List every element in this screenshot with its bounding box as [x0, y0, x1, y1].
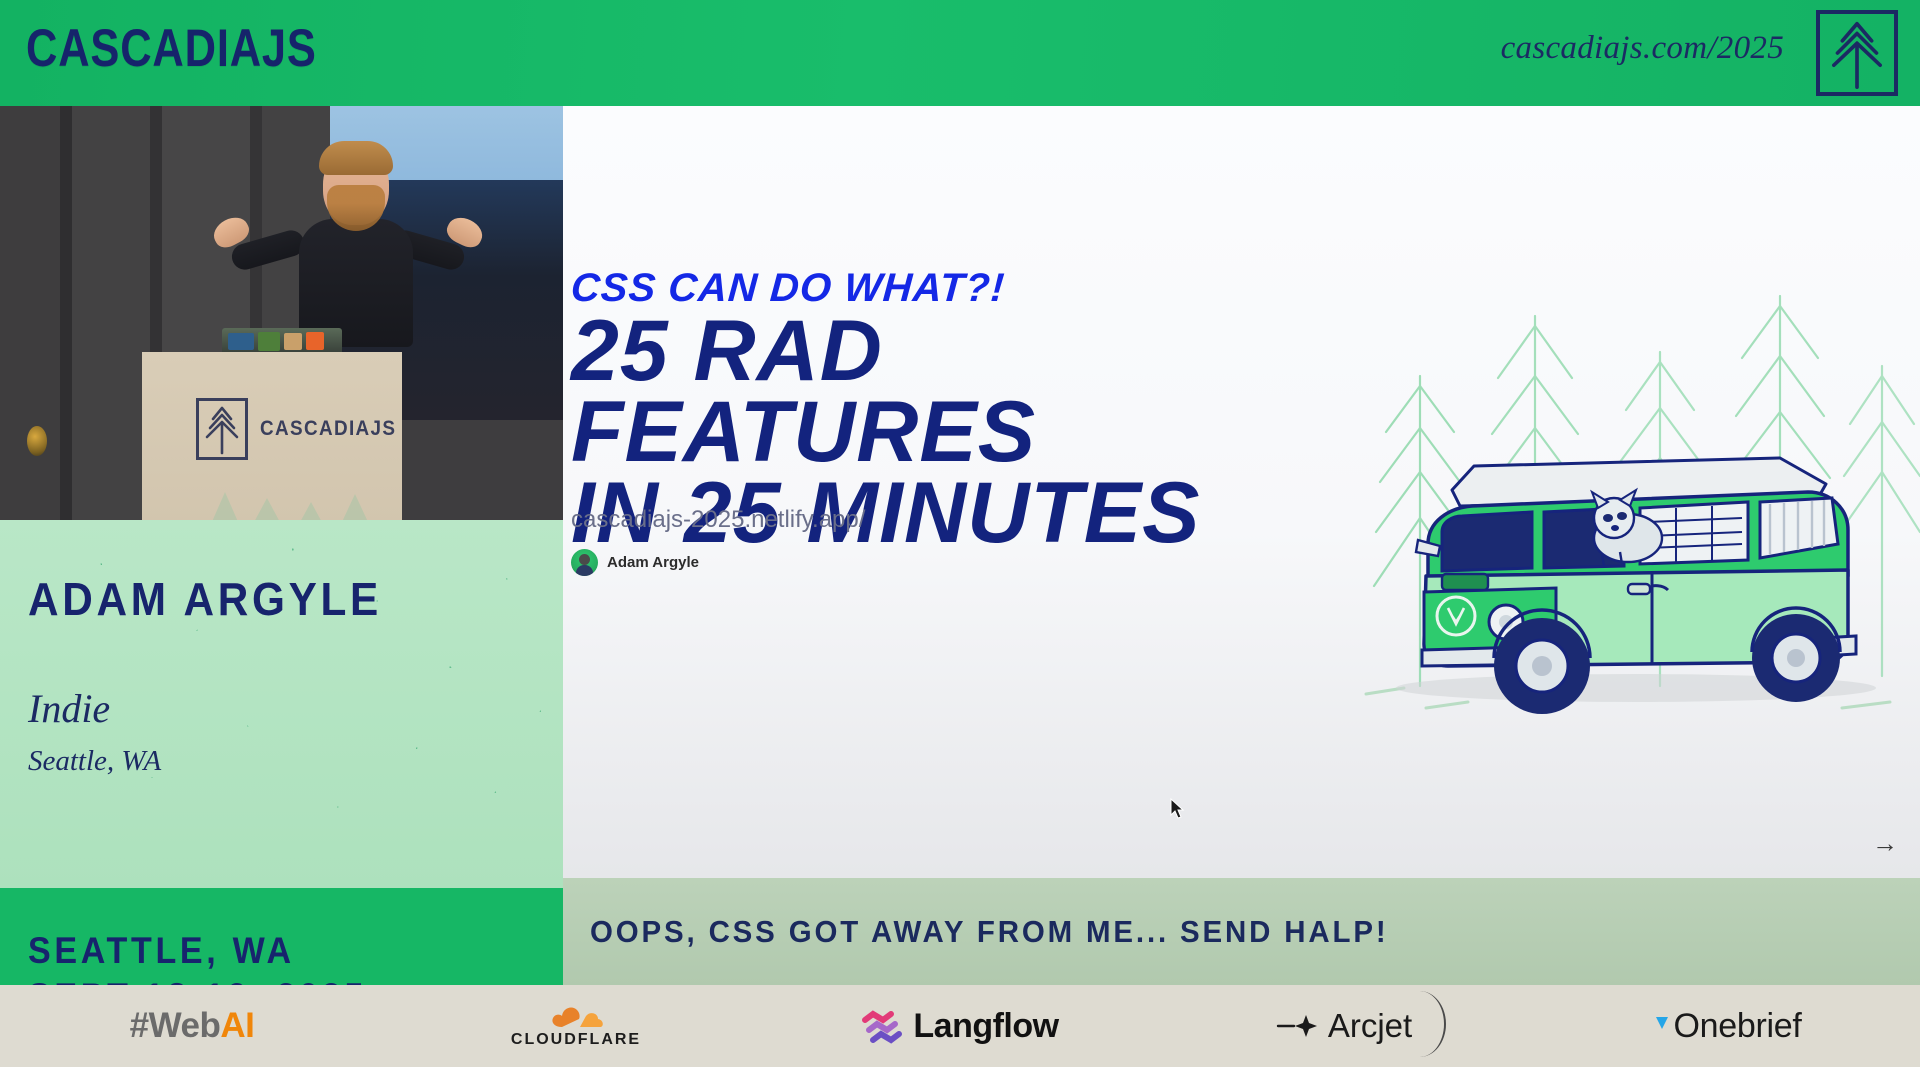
langflow-logo-icon: [861, 1006, 903, 1046]
sponsor-langflow[interactable]: Langflow: [768, 985, 1152, 1067]
webai-label-web: #Web: [130, 1006, 221, 1045]
podium-branding: CASCADIAJS: [196, 398, 412, 460]
arcjet-arc-decor: [1402, 991, 1446, 1057]
langflow-label: Langflow: [913, 1007, 1058, 1046]
laptop-sticker: [284, 333, 302, 350]
podium-brand-label: CASCADIAJS: [260, 417, 396, 441]
arcjet-label: Arcjet: [1328, 1007, 1412, 1045]
screen-root: CASCADIAJS cascadiajs.com/2025: [0, 0, 1920, 1067]
caption-text: OOPS, CSS GOT AWAY FROM ME... SEND HALP!: [590, 914, 1389, 950]
wall-sconce-icon: [27, 426, 47, 456]
speaker-role: Indie: [28, 685, 110, 732]
laptop-sticker: [306, 332, 324, 350]
caption-bar: OOPS, CSS GOT AWAY FROM ME... SEND HALP!: [563, 878, 1920, 985]
sponsor-arcjet[interactable]: Arcjet: [1152, 985, 1536, 1067]
speaker-hair: [319, 141, 393, 175]
podium-trees-icon: [195, 482, 395, 520]
speaker-name: ADAM ARGYLE: [28, 572, 382, 626]
webai-label-ai: AI: [220, 1006, 254, 1045]
laptop-sticker: [258, 332, 280, 351]
slide-title-line1: 25 RAD FEATURES: [571, 303, 1036, 480]
sponsor-webai[interactable]: #WebAI: [0, 985, 384, 1067]
conference-header: CASCADIAJS cascadiajs.com/2025: [0, 0, 1920, 106]
avatar: [571, 549, 598, 576]
onebrief-mark-icon: [1654, 1015, 1670, 1037]
green-van-illustration: [1356, 426, 1916, 726]
cloudflare-label: CLOUDFLARE: [511, 1031, 641, 1049]
speaker-info-panel: ADAM ARGYLE Indie Seattle, WA: [0, 520, 563, 888]
onebrief-label: Onebrief: [1673, 1007, 1801, 1046]
next-slide-button[interactable]: →: [1872, 830, 1898, 856]
header-url: cascadiajs.com/2025: [1501, 30, 1784, 67]
event-city: SEATTLE, WA: [28, 930, 295, 972]
webai-logo-icon: #WebAI: [130, 1006, 255, 1046]
speaker-video-feed[interactable]: CASCADIAJS: [0, 106, 563, 520]
slide-author-name: Adam Argyle: [607, 554, 699, 571]
speaker-location: Seattle, WA: [28, 745, 161, 778]
laptop-sticker: [228, 333, 254, 350]
left-column: CASCADIAJS ADAM ARGYLE Indie Seattle, WA: [0, 106, 563, 985]
slide-author: Adam Argyle: [571, 549, 699, 576]
pine-tree-logo-icon: [1816, 10, 1898, 96]
cloudflare-cloud-icon: [548, 1003, 604, 1029]
presentation-slide[interactable]: CSS CAN DO WHAT?! 25 RAD FEATURES IN 25 …: [563, 106, 1920, 878]
slide-url[interactable]: cascadiajs-2025.netlify.app/: [571, 506, 865, 534]
sponsor-bar: #WebAI CLOUDFLARE: [0, 985, 1920, 1067]
sponsor-cloudflare[interactable]: CLOUDFLARE: [384, 985, 768, 1067]
sponsor-onebrief[interactable]: Onebrief: [1536, 985, 1920, 1067]
pine-tree-logo-icon: [196, 398, 248, 460]
arcjet-spark-icon: [1276, 1013, 1322, 1039]
page-title: CASCADIAJS: [26, 18, 317, 79]
